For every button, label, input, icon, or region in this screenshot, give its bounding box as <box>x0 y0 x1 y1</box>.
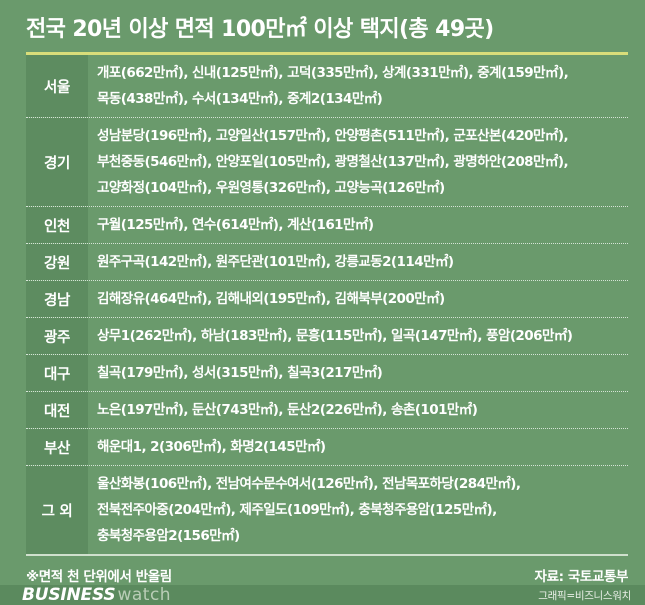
region-sites-cell: 성남분당(196만㎡), 고양일산(157만㎡), 안양평촌(511만㎡), 군… <box>88 118 628 206</box>
site-list-line: 칠곡(179만㎡), 성서(315만㎡), 칠곡3(217만㎡) <box>97 360 628 386</box>
site-list-line: 부천중동(546만㎡), 안양포일(105만㎡), 광명철산(137만㎡), 광… <box>97 149 628 175</box>
region-sites-cell: 울산화봉(106만㎡), 전남여수문수여서(126만㎡), 전남목포하당(284… <box>88 466 628 554</box>
region-table: 서울개포(662만㎡), 신내(125만㎡), 고덕(335만㎡), 상계(33… <box>26 55 628 554</box>
table-row: 대전노은(197만㎡), 둔산(743만㎡), 둔산2(226만㎡), 송촌(1… <box>26 392 628 429</box>
site-list-line: 울산화봉(106만㎡), 전남여수문수여서(126만㎡), 전남목포하당(284… <box>97 471 628 497</box>
region-sites-cell: 상무1(262만㎡), 하남(183만㎡), 문흥(115만㎡), 일곡(147… <box>88 318 628 354</box>
table-row: 서울개포(662만㎡), 신내(125만㎡), 고덕(335만㎡), 상계(33… <box>26 55 628 118</box>
table-container: 서울개포(662만㎡), 신내(125만㎡), 고덕(335만㎡), 상계(33… <box>26 52 628 556</box>
site-list-line: 해운대1, 2(306만㎡), 화명2(145만㎡) <box>97 434 628 460</box>
infographic-root: 전국 20년 이상 면적 100만㎡ 이상 택지(총 49곳) 서울개포(662… <box>0 0 645 555</box>
table-row: 인천구월(125만㎡), 연수(614만㎡), 계산(161만㎡) <box>26 207 628 244</box>
region-label: 서울 <box>26 55 88 117</box>
site-list-line: 성남분당(196만㎡), 고양일산(157만㎡), 안양평촌(511만㎡), 군… <box>97 123 628 149</box>
region-label: 그 외 <box>26 466 88 554</box>
region-label: 경기 <box>26 118 88 206</box>
table-bottom-rule <box>26 554 628 556</box>
site-list-line: 노은(197만㎡), 둔산(743만㎡), 둔산2(226만㎡), 송촌(101… <box>97 397 628 423</box>
table-row: 경남김해장유(464만㎡), 김해내외(195만㎡), 김해북부(200만㎡) <box>26 281 628 318</box>
graphic-credit: 그래픽=비즈니스워치 <box>538 588 631 603</box>
region-sites-cell: 개포(662만㎡), 신내(125만㎡), 고덕(335만㎡), 상계(331만… <box>88 55 628 117</box>
region-sites-cell: 김해장유(464만㎡), 김해내외(195만㎡), 김해북부(200만㎡) <box>88 281 628 317</box>
footnote-source: 자료: 국토교통부 <box>535 565 628 585</box>
table-row: 강원원주구곡(142만㎡), 원주단관(101만㎡), 강릉교동2(114만㎡) <box>26 244 628 281</box>
logo-business-text: BUSINESS <box>22 585 115 605</box>
region-label: 경남 <box>26 281 88 317</box>
page-title: 전국 20년 이상 면적 100만㎡ 이상 택지(총 49곳) <box>26 18 645 42</box>
table-row: 대구칠곡(179만㎡), 성서(315만㎡), 칠곡3(217만㎡) <box>26 355 628 392</box>
region-sites-cell: 칠곡(179만㎡), 성서(315만㎡), 칠곡3(217만㎡) <box>88 355 628 391</box>
region-label: 대전 <box>26 392 88 428</box>
site-list-line: 김해장유(464만㎡), 김해내외(195만㎡), 김해북부(200만㎡) <box>97 286 628 312</box>
site-list-line: 상무1(262만㎡), 하남(183만㎡), 문흥(115만㎡), 일곡(147… <box>97 323 628 349</box>
site-list-line: 개포(662만㎡), 신내(125만㎡), 고덕(335만㎡), 상계(331만… <box>97 60 628 86</box>
site-list-line: 고양화정(104만㎡), 우원영통(326만㎡), 고양능곡(126만㎡) <box>97 175 628 201</box>
site-list-line: 목동(438만㎡), 수서(134만㎡), 중계2(134만㎡) <box>97 86 628 112</box>
footnote-bar: ※면적 천 단위에서 반올림 자료: 국토교통부 <box>26 565 628 585</box>
region-label: 광주 <box>26 318 88 354</box>
region-label: 대구 <box>26 355 88 391</box>
region-label: 인천 <box>26 207 88 243</box>
table-row: 광주상무1(262만㎡), 하남(183만㎡), 문흥(115만㎡), 일곡(1… <box>26 318 628 355</box>
table-row: 부산해운대1, 2(306만㎡), 화명2(145만㎡) <box>26 429 628 466</box>
region-label: 강원 <box>26 244 88 280</box>
table-row: 경기성남분당(196만㎡), 고양일산(157만㎡), 안양평촌(511만㎡),… <box>26 118 628 207</box>
footnote-note: ※면적 천 단위에서 반올림 <box>26 565 172 585</box>
title-bar: 전국 20년 이상 면적 100만㎡ 이상 택지(총 49곳) <box>0 0 645 42</box>
site-list-line: 원주구곡(142만㎡), 원주단관(101만㎡), 강릉교동2(114만㎡) <box>97 249 628 275</box>
site-list-line: 전북전주아중(204만㎡), 제주일도(109만㎡), 충북청주용암(125만㎡… <box>97 497 628 523</box>
site-list-line: 구월(125만㎡), 연수(614만㎡), 계산(161만㎡) <box>97 212 628 238</box>
region-sites-cell: 해운대1, 2(306만㎡), 화명2(145만㎡) <box>88 429 628 465</box>
region-sites-cell: 구월(125만㎡), 연수(614만㎡), 계산(161만㎡) <box>88 207 628 243</box>
region-sites-cell: 노은(197만㎡), 둔산(743만㎡), 둔산2(226만㎡), 송촌(101… <box>88 392 628 428</box>
region-sites-cell: 원주구곡(142만㎡), 원주단관(101만㎡), 강릉교동2(114만㎡) <box>88 244 628 280</box>
table-row: 그 외울산화봉(106만㎡), 전남여수문수여서(126만㎡), 전남목포하당(… <box>26 466 628 554</box>
brand-logo: BUSINESS watch <box>22 585 171 605</box>
footer-bar: BUSINESS watch 그래픽=비즈니스워치 <box>0 585 645 605</box>
logo-watch-text: watch <box>117 585 171 605</box>
site-list-line: 충북청주용암2(156만㎡) <box>97 523 628 549</box>
region-label: 부산 <box>26 429 88 465</box>
